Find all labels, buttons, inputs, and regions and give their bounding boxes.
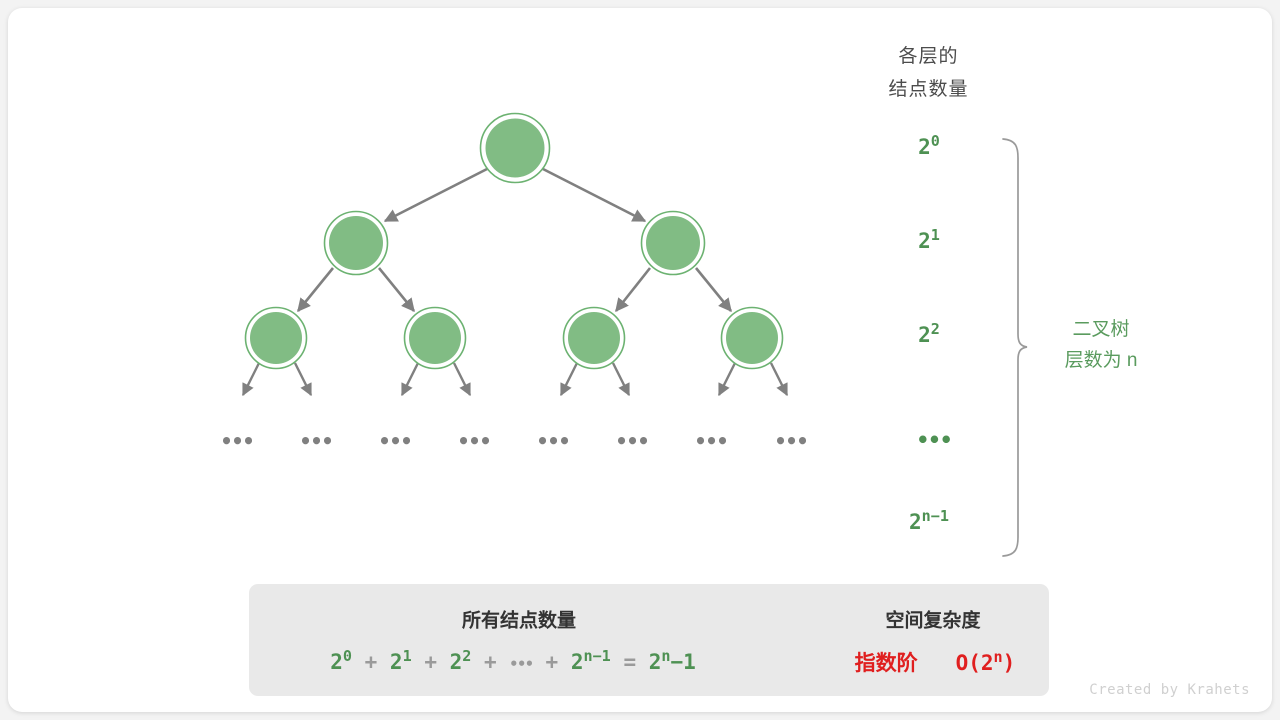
leaf-ellipsis: ••• [694,429,727,453]
summary-title: 所有结点数量 [462,606,576,633]
edge-l1b-right [696,268,731,311]
formula-plus: + [365,650,390,674]
formula-plus: + [424,650,449,674]
complexity-title: 空间复杂度 [885,606,980,633]
formula-term-0: 20 [330,650,352,674]
complexity-value: 指数阶 O(2n) [855,647,1016,677]
edge-root-right [543,169,645,221]
brace-caption: 二叉树 层数为 n [1040,314,1162,376]
edge-l1a-right [379,268,414,311]
formula-equals: = [623,650,648,674]
tree-node-l2d [722,308,783,369]
brace-caption-line1: 二叉树 [1040,314,1162,345]
leaf-ellipsis: ••• [457,429,490,453]
column-header-line2: 结点数量 [846,73,1011,106]
formula-ellipsis: ••• [509,656,533,673]
leaf-ellipsis: ••• [536,429,569,453]
leaf-ellipsis: ••• [774,429,807,453]
complexity-bigo: O(2n) [930,651,1015,675]
leaf-ellipsis: ••• [615,429,648,453]
level-label-0: 20 [918,135,940,159]
column-header-line1: 各层的 [846,40,1011,73]
levels-brace [1003,139,1027,556]
leaf-ellipsis: ••• [299,429,332,453]
tree-node-l2c [564,308,625,369]
tree-node-root [481,114,550,183]
tree-leaf-edges [243,363,787,395]
edge-root-left [385,169,487,221]
formula-result: 2n−1 [649,650,696,674]
column-header: 各层的 结点数量 [846,40,1011,106]
tree-nodes [246,114,783,369]
level-label-last: 2n−1 [909,510,949,534]
level-label-ellipsis: ••• [917,428,952,452]
tree-edges [298,169,731,311]
credit-text: Created by Krahets [1089,682,1250,698]
edge-l1b-left [616,268,650,311]
formula-term-2: 22 [450,650,472,674]
tree-node-l2a [246,308,307,369]
leaf-ellipsis: ••• [220,429,253,453]
summary-formula: 20 + 21 + 22 + ••• + 2n−1 = 2n−1 [330,650,696,674]
complexity-label: 指数阶 [855,652,918,675]
tree-node-l1a [325,212,388,275]
formula-plus: + [546,650,571,674]
formula-term-1: 21 [390,650,412,674]
tree-node-l2b [405,308,466,369]
formula-plus: + [484,650,509,674]
brace-caption-line2: 层数为 n [1040,345,1162,376]
screenshot-canvas: 各层的 结点数量 20 21 22 ••• 2n−1 二叉树 层数为 n •••… [0,0,1280,720]
tree-node-l1b [642,212,705,275]
leaf-ellipsis: ••• [378,429,411,453]
level-label-2: 22 [918,323,940,347]
formula-term-last: 2n−1 [571,650,611,674]
diagram-card: 各层的 结点数量 20 21 22 ••• 2n−1 二叉树 层数为 n •••… [8,8,1272,712]
summary-box [249,584,1049,696]
level-label-1: 21 [918,229,940,253]
edge-l1a-left [298,268,333,311]
